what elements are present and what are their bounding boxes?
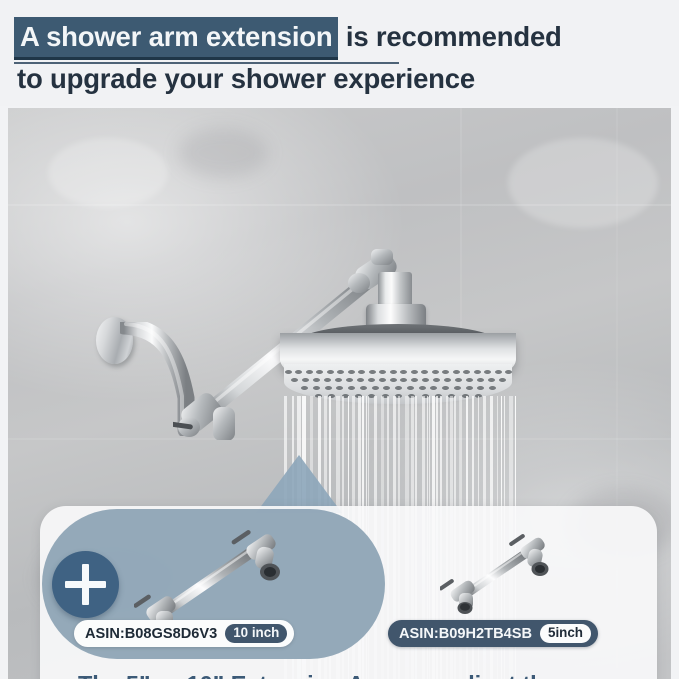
shower-nozzle <box>422 378 429 382</box>
shower-photo: ASIN:B08GS8D6V3 10 inch ASIN:B09H2TB4SB … <box>8 108 671 679</box>
shower-nozzle <box>463 370 470 374</box>
shower-nozzle <box>372 386 379 390</box>
shower-nozzle <box>419 386 426 390</box>
shower-nozzle <box>306 370 313 374</box>
shower-nozzle <box>348 386 355 390</box>
headline-line-1: A shower arm extension is recommended <box>14 17 669 60</box>
shower-nozzle <box>411 378 418 382</box>
shower-nozzle <box>499 378 506 382</box>
shower-nozzle <box>302 378 309 382</box>
shower-nozzle <box>477 378 484 382</box>
size-badge-5-inch: 5inch <box>540 624 591 642</box>
shower-nozzle <box>505 370 512 374</box>
highlighted-phrase: A shower arm extension <box>14 17 338 60</box>
header-banner: A shower arm extension is recommended to… <box>0 0 679 106</box>
shower-nozzle <box>337 370 344 374</box>
shower-nozzle <box>489 386 496 390</box>
shower-nozzle <box>358 370 365 374</box>
shower-nozzle <box>369 370 376 374</box>
shower-nozzle <box>301 386 308 390</box>
shower-nozzle <box>411 370 418 374</box>
pointer-triangle-icon <box>256 455 342 513</box>
shower-nozzle <box>421 370 428 374</box>
plus-icon <box>52 551 119 618</box>
wall-shadow <box>178 128 268 178</box>
asin-pill-10-inch[interactable]: ASIN:B08GS8D6V3 10 inch <box>74 620 294 647</box>
asin-label-10-inch: ASIN:B08GS8D6V3 <box>85 626 217 642</box>
shower-nozzle <box>316 370 323 374</box>
shower-nozzle <box>324 378 331 382</box>
shower-nozzle <box>390 370 397 374</box>
shower-nozzle <box>455 378 462 382</box>
shower-nozzle <box>477 386 484 390</box>
shower-nozzle <box>444 378 451 382</box>
product-infographic: A shower arm extension is recommended to… <box>0 0 679 679</box>
shower-nozzle <box>368 378 375 382</box>
shower-nozzle <box>432 370 439 374</box>
caption-line-1: The 5” or 10” Extension Arm can adjust t… <box>78 669 623 679</box>
shower-nozzle <box>407 386 414 390</box>
shower-nozzle <box>400 370 407 374</box>
shower-nozzle <box>430 386 437 390</box>
shower-nozzle <box>348 370 355 374</box>
shower-nozzle <box>453 370 460 374</box>
shower-nozzle <box>346 378 353 382</box>
shower-nozzle <box>400 378 407 382</box>
size-badge-10-inch: 10 inch <box>225 624 287 642</box>
shower-nozzle <box>442 370 449 374</box>
headline-line-2: to upgrade your shower experience <box>14 60 669 97</box>
shower-nozzle <box>335 378 342 382</box>
shower-nozzle <box>484 370 491 374</box>
shower-nozzle <box>442 386 449 390</box>
shower-nozzle <box>379 378 386 382</box>
shower-nozzle <box>313 378 320 382</box>
headline-rest: is recommended <box>338 21 561 52</box>
shower-nozzle <box>357 378 364 382</box>
headline-underline <box>14 62 399 64</box>
shower-nozzle <box>291 378 298 382</box>
wall-highlight <box>48 138 168 208</box>
shower-nozzle <box>325 386 332 390</box>
shower-nozzle <box>474 370 481 374</box>
shower-nozzle <box>336 386 343 390</box>
shower-nozzle <box>379 370 386 374</box>
shower-nozzle <box>285 370 292 374</box>
shower-nozzle <box>313 386 320 390</box>
shower-nozzle <box>454 386 461 390</box>
shower-nozzle <box>495 370 502 374</box>
asin-label-5-inch: ASIN:B09H2TB4SB <box>399 626 532 642</box>
shower-nozzle <box>466 386 473 390</box>
shower-nozzle <box>466 378 473 382</box>
shower-nozzle <box>395 386 402 390</box>
shower-nozzle <box>360 386 367 390</box>
shower-nozzle <box>390 378 397 382</box>
shower-nozzle <box>488 378 495 382</box>
shower-nozzle <box>433 378 440 382</box>
wall-highlight <box>508 138 658 228</box>
shower-nozzle <box>383 386 390 390</box>
card-caption: The 5” or 10” Extension Arm can adjust t… <box>78 669 623 679</box>
asin-pill-5-inch[interactable]: ASIN:B09H2TB4SB 5inch <box>388 620 598 647</box>
product-image-5-inch-arm <box>440 532 560 616</box>
shower-nozzle <box>295 370 302 374</box>
shower-nozzle <box>327 370 334 374</box>
